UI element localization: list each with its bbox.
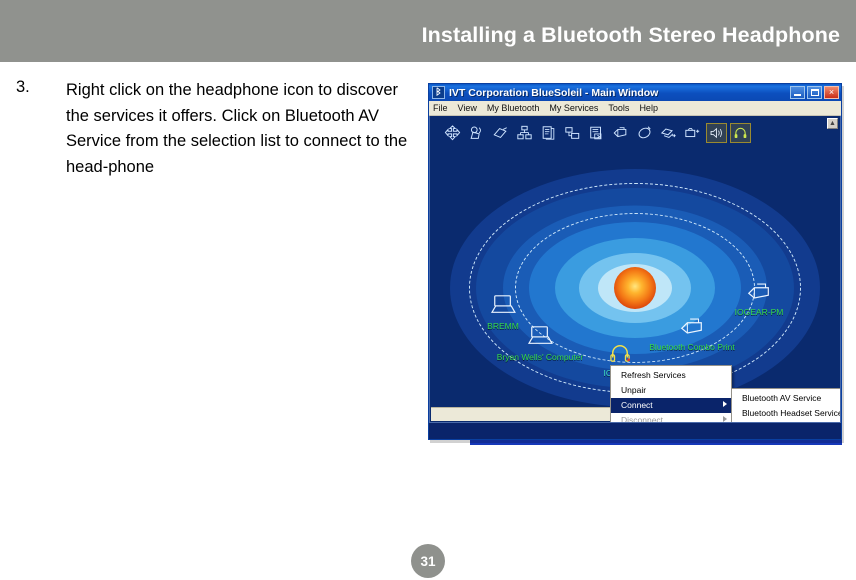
audio-speaker-icon[interactable] xyxy=(706,123,727,143)
headphone-icon xyxy=(608,343,632,363)
minimize-icon xyxy=(794,94,801,96)
computer-icon xyxy=(489,294,517,316)
instruction-number: 3. xyxy=(16,78,30,97)
connect-submenu: Bluetooth AV Service Bluetooth Headset S… xyxy=(731,388,841,423)
context-menu-item-connect[interactable]: Connect xyxy=(611,398,731,413)
device-context-menu: Refresh Services Unpair Connect Disconne… xyxy=(610,365,732,423)
bluetooth-search-icon[interactable] xyxy=(442,123,463,143)
page-number-badge: 31 xyxy=(411,544,445,578)
minimize-button[interactable] xyxy=(790,86,805,99)
network-lan-icon[interactable] xyxy=(514,123,535,143)
bluetooth-glyph xyxy=(434,87,443,96)
printer-icon[interactable] xyxy=(610,123,631,143)
context-menu-item-label: Disconnect xyxy=(621,415,663,423)
serial-port-icon[interactable] xyxy=(490,123,511,143)
menu-item-help[interactable]: Help xyxy=(639,103,658,113)
window-title-text: IVT Corporation BlueSoleil - Main Window xyxy=(449,87,658,99)
context-menu-item-disconnect: Disconnect xyxy=(611,413,731,423)
instruction-block: 3. Right click on the headphone icon to … xyxy=(16,78,411,180)
fax-document-icon[interactable] xyxy=(538,123,559,143)
toolbar xyxy=(430,116,840,150)
computer-icon xyxy=(526,325,554,347)
maximize-button[interactable] xyxy=(807,86,822,99)
printer-icon xyxy=(679,316,705,337)
instruction-text: Right click on the headphone icon to dis… xyxy=(66,78,411,180)
imaging-icon[interactable] xyxy=(682,123,703,143)
page-title: Installing a Bluetooth Stereo Headphone xyxy=(422,23,840,48)
synchronization-icon[interactable] xyxy=(634,123,655,143)
device-iogear-pm[interactable]: IOGEAR-PM xyxy=(704,281,814,317)
submenu-item-bluetooth-av-service[interactable]: Bluetooth AV Service xyxy=(732,391,840,406)
menu-item-my-bluetooth[interactable]: My Bluetooth xyxy=(487,103,540,113)
bluesoleil-window: IVT Corporation BlueSoleil - Main Window… xyxy=(428,83,842,440)
menu-item-tools[interactable]: Tools xyxy=(608,103,629,113)
context-menu-item-refresh-services[interactable]: Refresh Services xyxy=(611,368,731,383)
close-icon: × xyxy=(825,87,838,98)
menu-item-view[interactable]: View xyxy=(458,103,477,113)
object-push-icon[interactable] xyxy=(658,123,679,143)
bluetooth-center-sphere-icon[interactable] xyxy=(614,267,656,309)
bluetooth-logo-icon xyxy=(432,86,445,99)
device-bluetooth-combo-print[interactable]: Bluetooth Combo Print xyxy=(637,316,747,352)
submenu-item-bluetooth-headset-service[interactable]: Bluetooth Headset Service xyxy=(732,406,840,421)
dialup-network-icon[interactable] xyxy=(562,123,583,143)
bluetooth-device-icon[interactable] xyxy=(466,123,487,143)
file-transfer-icon[interactable] xyxy=(586,123,607,143)
menu-bar: File View My Bluetooth My Services Tools… xyxy=(429,101,841,116)
submenu-arrow-icon xyxy=(723,416,727,422)
window-titlebar[interactable]: IVT Corporation BlueSoleil - Main Window… xyxy=(429,84,841,101)
page-header-band: Installing a Bluetooth Stereo Headphone xyxy=(0,0,856,62)
printer-icon xyxy=(746,281,772,302)
window-body: ▲ ▼ BREMM Bryan Wells' Computer xyxy=(429,116,841,423)
close-button[interactable]: × xyxy=(824,86,839,99)
device-label: Bluetooth Combo Print xyxy=(637,342,747,352)
window-controls: × xyxy=(790,86,839,99)
scroll-up-button[interactable]: ▲ xyxy=(827,118,838,129)
headphone-icon[interactable] xyxy=(730,123,751,143)
maximize-icon xyxy=(811,89,819,96)
context-menu-item-label: Connect xyxy=(621,400,653,410)
context-menu-item-unpair[interactable]: Unpair xyxy=(611,383,731,398)
submenu-arrow-icon xyxy=(723,401,727,407)
menu-item-my-services[interactable]: My Services xyxy=(549,103,598,113)
window-drop-shadow xyxy=(470,440,842,445)
menu-item-file[interactable]: File xyxy=(433,103,448,113)
